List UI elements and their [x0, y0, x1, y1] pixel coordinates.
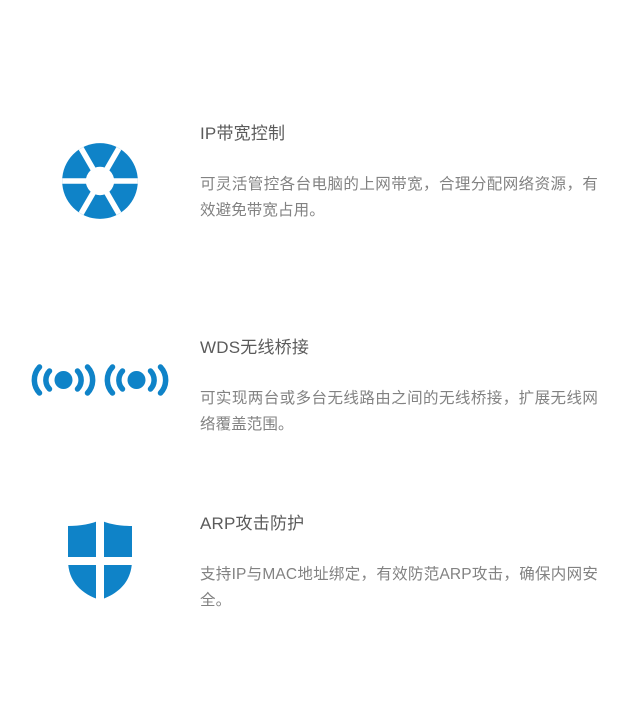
feature-description: 可灵活管控各台电脑的上网带宽，合理分配网络资源，有效避免带宽占用。 — [200, 172, 598, 224]
feature-description: 可实现两台或多台无线路由之间的无线桥接，扩展无线网络覆盖范围。 — [200, 386, 598, 438]
feature-icon-cell — [0, 336, 200, 406]
feature-row: WDS无线桥接 可实现两台或多台无线路由之间的无线桥接，扩展无线网络覆盖范围。 — [0, 336, 640, 438]
feature-row: ARP攻击防护 支持IP与MAC地址绑定，有效防范ARP攻击，确保内网安全。 — [0, 512, 640, 614]
feature-icon-cell — [0, 122, 200, 224]
feature-title: WDS无线桥接 — [200, 336, 598, 360]
segmented-wheel-icon — [57, 138, 143, 224]
feature-text-cell: IP带宽控制 可灵活管控各台电脑的上网带宽，合理分配网络资源，有效避免带宽占用。 — [200, 122, 640, 224]
feature-text-cell: ARP攻击防护 支持IP与MAC地址绑定，有效防范ARP攻击，确保内网安全。 — [200, 512, 640, 614]
wireless-bridge-icon — [27, 354, 173, 406]
feature-title: IP带宽控制 — [200, 122, 598, 146]
feature-title: ARP攻击防护 — [200, 512, 598, 536]
shield-icon — [66, 520, 134, 602]
feature-description: 支持IP与MAC地址绑定，有效防范ARP攻击，确保内网安全。 — [200, 562, 598, 614]
feature-text-cell: WDS无线桥接 可实现两台或多台无线路由之间的无线桥接，扩展无线网络覆盖范围。 — [200, 336, 640, 438]
feature-icon-cell — [0, 512, 200, 602]
feature-list: IP带宽控制 可灵活管控各台电脑的上网带宽，合理分配网络资源，有效避免带宽占用。 — [0, 0, 640, 711]
feature-row: IP带宽控制 可灵活管控各台电脑的上网带宽，合理分配网络资源，有效避免带宽占用。 — [0, 122, 640, 224]
